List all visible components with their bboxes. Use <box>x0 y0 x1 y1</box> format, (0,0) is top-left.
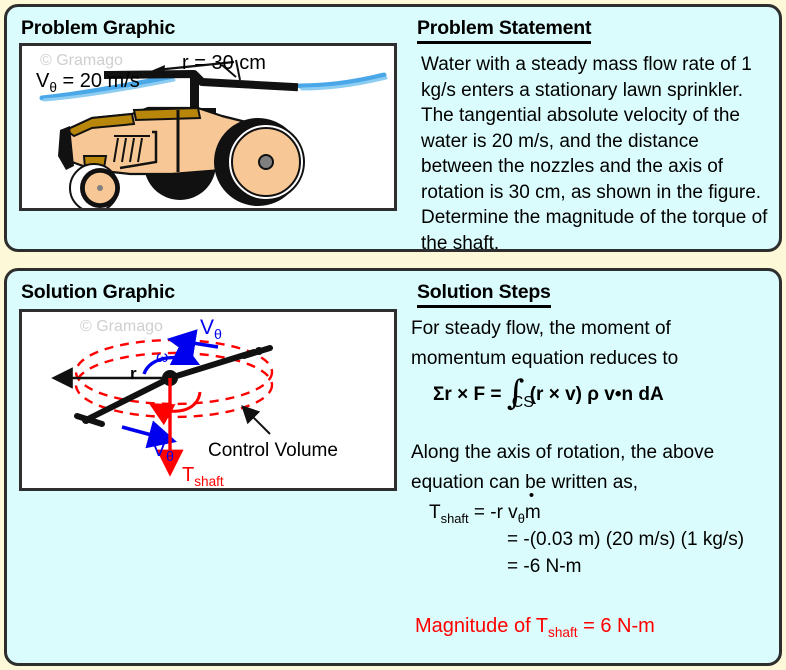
problem-statement-column: Problem Statement Water with a steady ma… <box>405 11 781 253</box>
answer-prefix: Magnitude of T <box>415 615 548 637</box>
velocity-symbol: V <box>36 70 49 92</box>
vtheta-bottom-symbol: V <box>152 438 166 461</box>
torque-line-3: = -6 N-m <box>411 556 781 583</box>
problem-graphic-column: Problem Graphic <box>13 11 397 253</box>
solution-intro-text: For steady flow, the moment of momentum … <box>411 314 771 374</box>
solution-steps-title: Solution Steps <box>417 281 551 308</box>
problem-statement-title: Problem Statement <box>417 17 591 44</box>
label-omega: ω <box>156 349 169 367</box>
equation-rhs: (r × v) ρ v•n dA <box>530 384 664 405</box>
vtheta-top-symbol: V <box>200 316 214 339</box>
solution-graphic-title: Solution Graphic <box>21 281 397 304</box>
vtheta-top-subscript: θ <box>214 327 222 343</box>
label-r: r <box>130 364 137 384</box>
problem-statement-text: Water with a steady mass flow rate of 1 … <box>421 52 771 256</box>
label-vtheta-bottom: Vθ <box>152 438 174 465</box>
vtheta-bottom-subscript: θ <box>166 449 174 465</box>
torque-rhs-subscript: θ <box>518 511 525 526</box>
torque-line-1: Tshaft = -r vθ m <box>411 502 781 529</box>
label-control-volume: Control Volume <box>208 440 338 462</box>
label-vtheta-top: Vθ <box>200 316 222 343</box>
solution-graphic-column: Solution Graphic <box>13 275 397 667</box>
tshaft-eq-symbol: T <box>429 502 441 523</box>
label-tshaft: Tshaft <box>182 464 224 489</box>
velocity-value: = 20 m/s <box>57 70 140 92</box>
torque-calculation: Tshaft = -r vθ m = -(0.03 m) (20 m/s) (1… <box>411 502 781 583</box>
answer-value: = 6 N-m <box>578 615 655 637</box>
tshaft-eq-subscript: shaft <box>441 511 469 526</box>
label-radius: r = 30 cm <box>182 52 266 75</box>
final-answer: Magnitude of Tshaft = 6 N-m <box>415 615 781 640</box>
tshaft-symbol: T <box>182 464 194 486</box>
solution-panel: Solution Graphic <box>4 268 782 666</box>
torque-line-2: = -(0.03 m) (20 m/s) (1 kg/s) <box>411 529 781 556</box>
moment-of-momentum-equation: Σr × F = ∫CS (r × v) ρ v•n dA <box>433 384 781 406</box>
problem-panel: Problem Graphic <box>4 4 782 252</box>
label-tangential-velocity: Vθ = 20 m/s <box>36 70 140 95</box>
solution-graphic-box: © Gramago Vθ Vθ ω r Control Volume Tshaf… <box>19 309 397 491</box>
solution-steps-column: Solution Steps For steady flow, the mome… <box>405 275 781 667</box>
problem-graphic-box: © Gramago Vθ = 20 m/s r = 30 cm <box>19 43 397 211</box>
velocity-subscript: θ <box>49 80 57 95</box>
equation-lhs: Σr × F = <box>433 384 501 405</box>
answer-subscript: shaft <box>548 625 577 640</box>
tshaft-subscript: shaft <box>194 474 223 489</box>
problem-graphic-title: Problem Graphic <box>21 17 397 40</box>
torque-rhs: = -r v <box>469 502 518 523</box>
mass-flow-rate-symbol: m <box>525 502 541 524</box>
solution-along-text: Along the axis of rotation, the above eq… <box>411 438 771 498</box>
